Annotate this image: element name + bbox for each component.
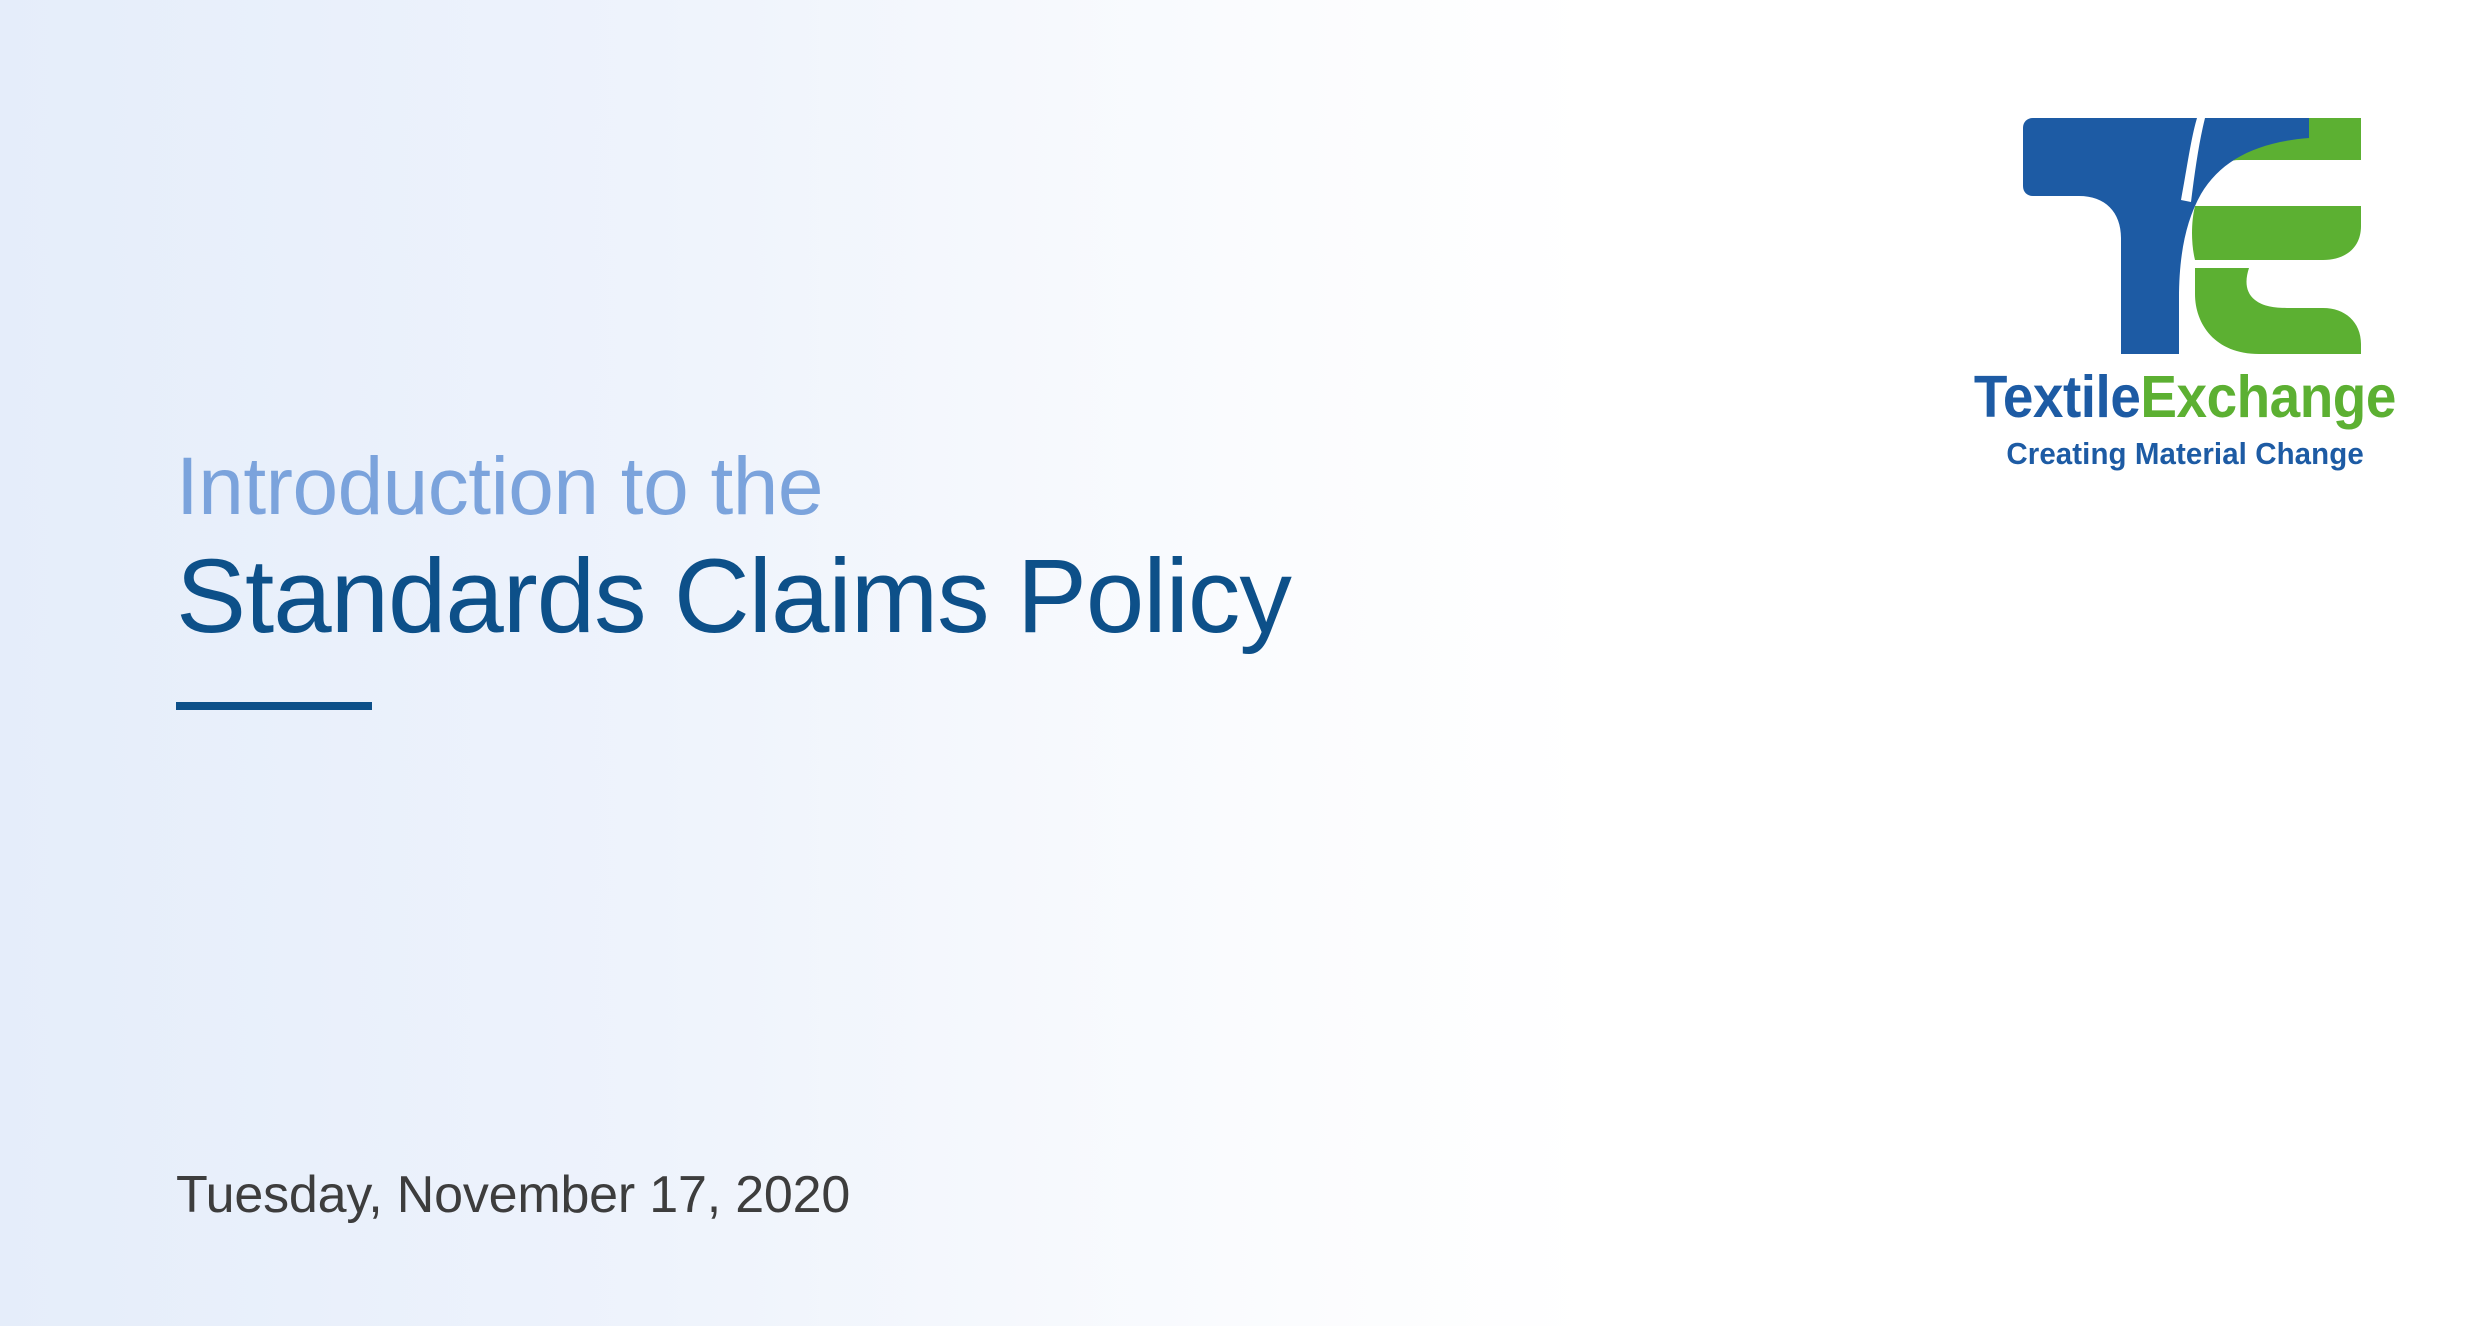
title-slide: TextileExchange Creating Material Change…	[0, 0, 2488, 1326]
textile-exchange-logo-mark	[2009, 108, 2361, 356]
logo-tagline: Creating Material Change	[2006, 438, 2363, 469]
brand-logo: TextileExchange Creating Material Change	[1975, 108, 2395, 469]
logo-wordmark: TextileExchange	[1974, 368, 2396, 427]
title-block: Introduction to the Standards Claims Pol…	[176, 444, 1876, 710]
logo-wordmark-exchange: Exchange	[2141, 364, 2397, 430]
slide-date: Tuesday, November 17, 2020	[176, 1167, 850, 1224]
logo-wordmark-textile: Textile	[1974, 364, 2140, 430]
title-divider	[176, 702, 372, 710]
page-title: Standards Claims Policy	[176, 539, 1876, 655]
slide-eyebrow: Introduction to the	[176, 444, 1876, 531]
